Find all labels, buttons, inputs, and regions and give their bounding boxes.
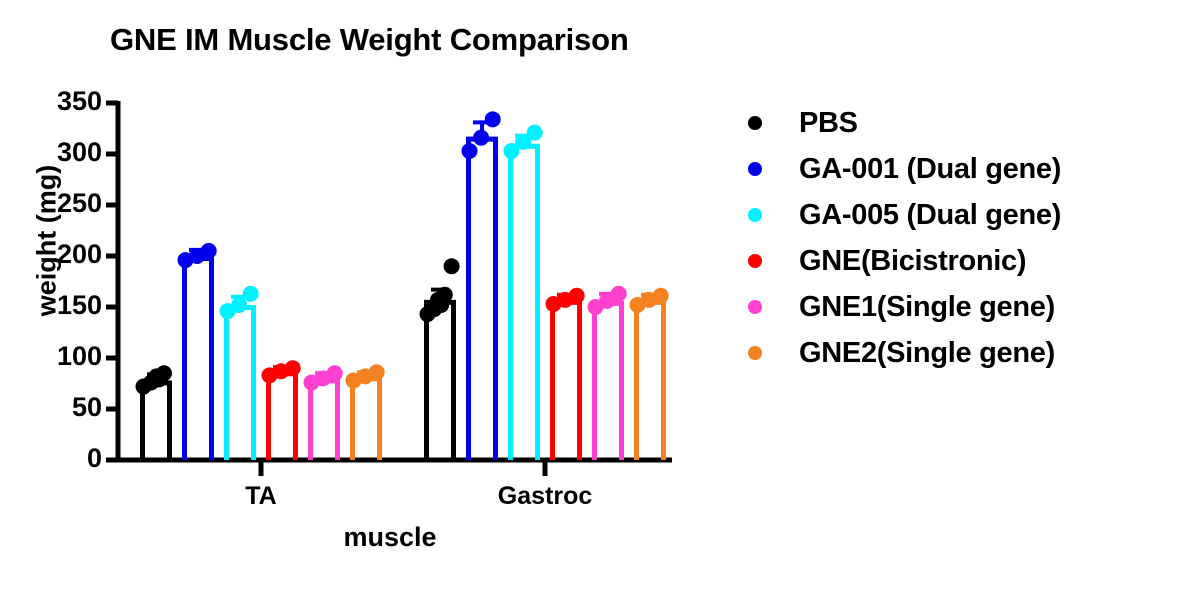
bar-4-0 [311,381,338,460]
legend-marker-icon [748,254,762,268]
data-point-0-1 [437,287,453,303]
legend-marker-icon [748,208,762,222]
x-axis-label: muscle [250,522,530,553]
bar-3-0 [269,374,296,460]
bar-1-0 [185,259,212,461]
legend-item-label: GNE(Bicistronic) [799,245,1026,278]
legend-marker-icon [748,300,762,314]
bar-1-1 [469,139,496,460]
bar-5-0 [353,379,380,460]
x-tick-label: TA [245,482,276,511]
data-point-2-1 [527,125,543,141]
legend-marker-icon [748,116,762,130]
legend-item-label: GNE1(Single gene) [799,291,1055,324]
bar-3-1 [553,302,580,460]
x-tick-label: Gastroc [498,482,592,511]
data-point-0-1 [444,258,460,274]
data-point-3-0 [285,360,301,376]
legend-marker-icon [748,162,762,176]
legend-item-label: GA-001 (Dual gene) [799,153,1061,186]
data-point-3-1 [569,288,585,304]
legend-item-label: GA-005 (Dual gene) [799,199,1061,232]
bar-5-1 [637,302,664,460]
data-point-2-0 [231,297,247,313]
chart-figure: GNE IM Muscle Weight Comparison weight (… [0,0,1200,615]
bar-2-1 [511,146,538,460]
bar-2-0 [227,307,254,460]
data-point-5-0 [369,364,385,380]
data-point-5-1 [653,288,669,304]
legend-item: GNE1(Single gene) [748,284,1061,330]
data-point-1-0 [201,243,217,259]
data-point-1-1 [485,111,501,127]
chart-legend: PBSGA-001 (Dual gene)GA-005 (Dual gene)G… [748,100,1061,376]
bar-0-1 [427,302,454,460]
bar-0-0 [143,383,170,460]
legend-item-label: PBS [799,107,858,140]
legend-item: PBS [748,100,1061,146]
data-point-0-0 [156,365,172,381]
legend-item: GA-005 (Dual gene) [748,192,1061,238]
data-point-1-1 [473,130,489,146]
bar-4-1 [595,303,622,460]
legend-item: GNE2(Single gene) [748,330,1061,376]
data-point-2-0 [243,286,259,302]
legend-item-label: GNE2(Single gene) [799,337,1055,370]
legend-item: GNE(Bicistronic) [748,238,1061,284]
data-point-1-1 [462,143,478,159]
data-point-4-1 [611,286,627,302]
data-point-4-0 [327,365,343,381]
legend-marker-icon [748,346,762,360]
legend-item: GA-001 (Dual gene) [748,146,1061,192]
